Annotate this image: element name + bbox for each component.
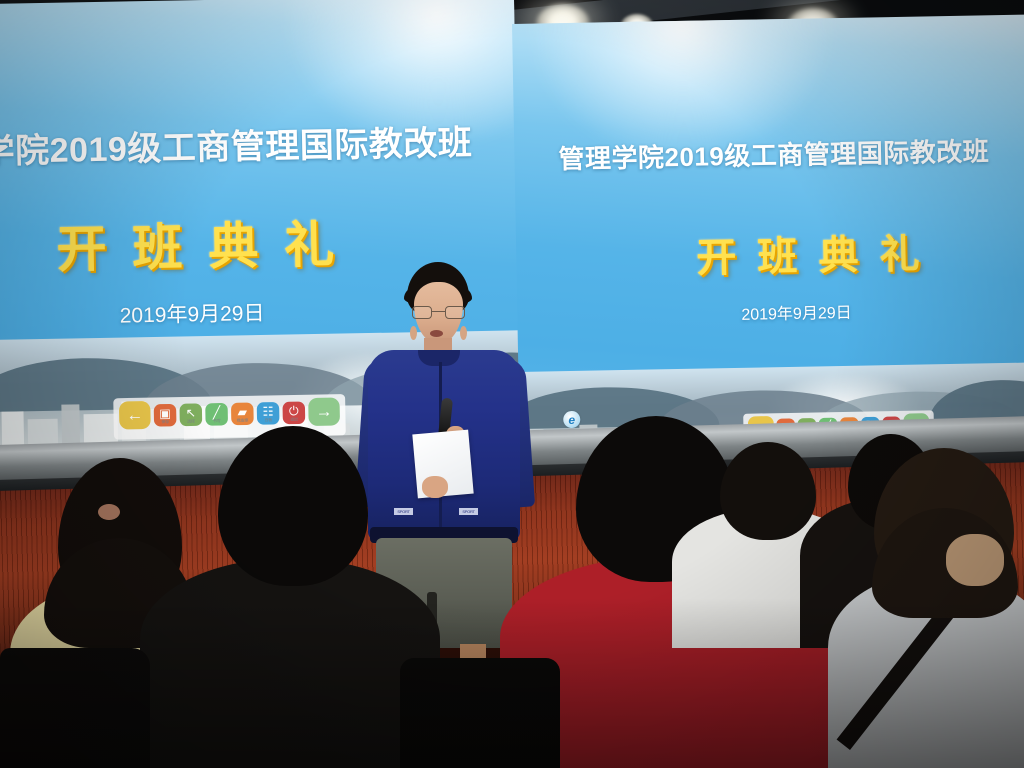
right-screen-title: 管理学院2019级工商管理国际教改班 bbox=[558, 131, 989, 176]
back-arrow-icon-glyph: ← bbox=[126, 407, 143, 424]
speaker-ear-right bbox=[460, 326, 467, 340]
speaker-glasses bbox=[412, 306, 465, 319]
save-icon[interactable]: ▣保存 bbox=[154, 403, 177, 426]
save-icon-label: 保存 bbox=[154, 421, 176, 425]
pen-icon[interactable]: ╱书写 bbox=[205, 402, 228, 425]
eraser-icon-label: 橡皮擦 bbox=[231, 419, 253, 423]
right-projection-screen: 管理学院2019级工商管理国际教改班 开 班 典 礼 2019年9月29日 e bbox=[512, 14, 1024, 464]
chair-back-center bbox=[400, 658, 560, 768]
forward-arrow-icon[interactable]: → bbox=[308, 398, 340, 427]
pointer-icon[interactable]: ↖选择 bbox=[179, 403, 202, 426]
power-icon-label: 退出 bbox=[283, 418, 305, 422]
chair-back-left bbox=[0, 648, 150, 768]
right-screen-date: 2019年9月29日 bbox=[741, 299, 852, 325]
photo-scene: 学院2019级工商管理国际教改班 开 班 典 礼 2019年9月29日 bbox=[0, 0, 1024, 768]
forward-arrow-icon-glyph: → bbox=[316, 403, 333, 420]
left-screen-headline: 开 班 典 礼 bbox=[56, 205, 341, 282]
audience-member-6 bbox=[828, 448, 1024, 768]
left-screen-title: 学院2019级工商管理国际教改班 bbox=[0, 115, 473, 173]
power-icon[interactable]: ⏻退出 bbox=[282, 401, 305, 424]
left-screen-date: 2019年9月29日 bbox=[119, 297, 264, 330]
pointer-icon-label: 选择 bbox=[180, 420, 202, 424]
speaker-ear-left bbox=[410, 326, 417, 340]
eraser-icon[interactable]: ▰橡皮擦 bbox=[231, 402, 254, 425]
right-screen-headline: 开 班 典 礼 bbox=[696, 221, 925, 283]
hair-clip bbox=[98, 504, 120, 520]
speaker-mouth bbox=[430, 330, 443, 337]
black-top bbox=[140, 558, 440, 768]
library-icon[interactable]: ☷白板 bbox=[257, 401, 280, 424]
jacket-logo-right: SPORT bbox=[459, 508, 478, 515]
glasses-lens-left bbox=[412, 306, 432, 319]
head-hair bbox=[218, 426, 368, 586]
back-arrow-icon[interactable]: ← bbox=[119, 401, 151, 430]
neck-skin bbox=[946, 534, 1004, 586]
pen-icon-label: 书写 bbox=[206, 420, 228, 424]
library-icon-label: 白板 bbox=[257, 419, 279, 423]
mountain-far-right bbox=[929, 379, 1024, 422]
glasses-lens-right bbox=[445, 306, 465, 319]
glasses-bridge bbox=[432, 311, 445, 312]
audience-member-2 bbox=[140, 438, 440, 768]
